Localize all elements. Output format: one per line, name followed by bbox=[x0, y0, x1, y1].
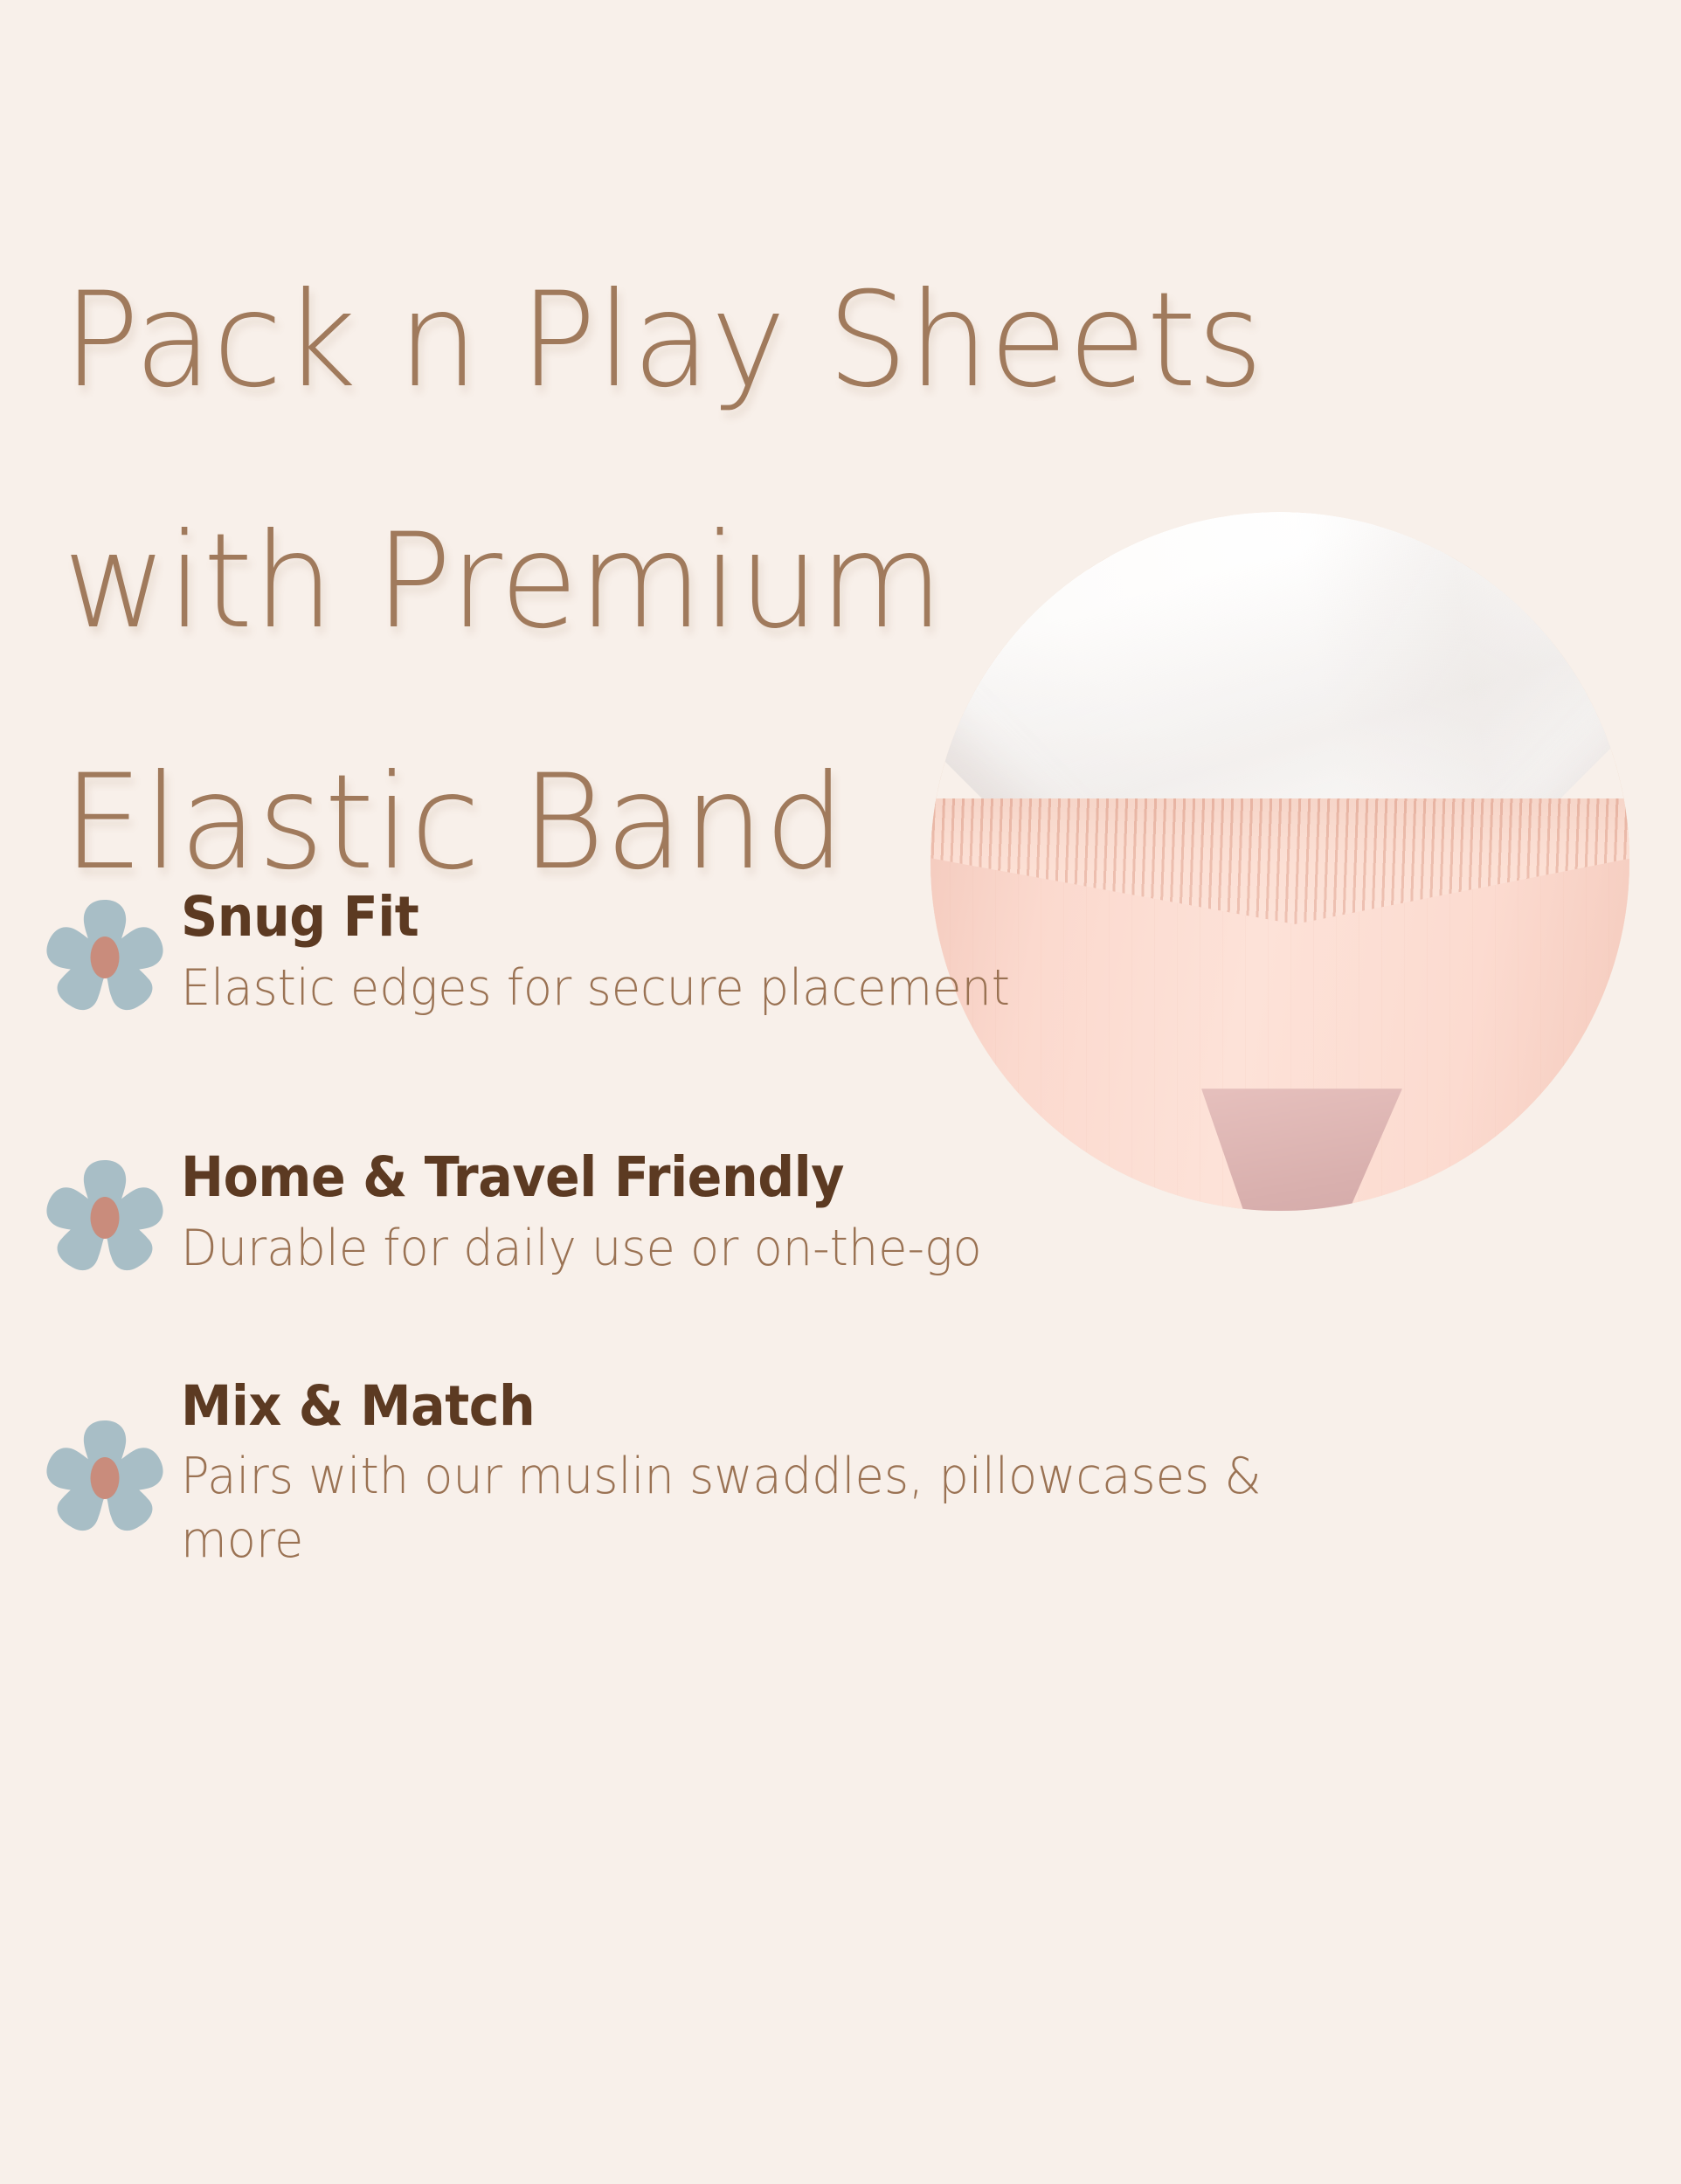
page-title: Pack n Play Sheets with Premium Elastic … bbox=[63, 160, 1588, 1004]
feature-item-home-travel-friendly: Home & Travel Friendly Durable for daily… bbox=[0, 1115, 1363, 1316]
feature-title: Home & Travel Friendly bbox=[181, 1150, 1280, 1206]
feature-text-mix-match: Mix & Match Pairs with our muslin swaddl… bbox=[179, 1379, 1363, 1572]
page-title-line-3: Elastic Band bbox=[63, 763, 1588, 883]
feature-description: Pairs with our muslin swaddles, pillowca… bbox=[181, 1445, 1304, 1572]
product-feature-poster: Pack n Play Sheets with Premium Elastic … bbox=[0, 0, 1681, 2184]
flower-icon bbox=[31, 1401, 179, 1550]
feature-text-home-travel-friendly: Home & Travel Friendly Durable for daily… bbox=[179, 1150, 1363, 1280]
page-title-line-2: with Premium bbox=[63, 522, 1588, 642]
feature-item-mix-match: Mix & Match Pairs with our muslin swaddl… bbox=[0, 1375, 1363, 1576]
flower-icon bbox=[31, 1141, 179, 1289]
feature-title: Mix & Match bbox=[181, 1379, 1280, 1434]
feature-description: Durable for daily use or on-the-go bbox=[181, 1217, 1304, 1281]
page-title-line-1: Pack n Play Sheets bbox=[63, 280, 1588, 401]
